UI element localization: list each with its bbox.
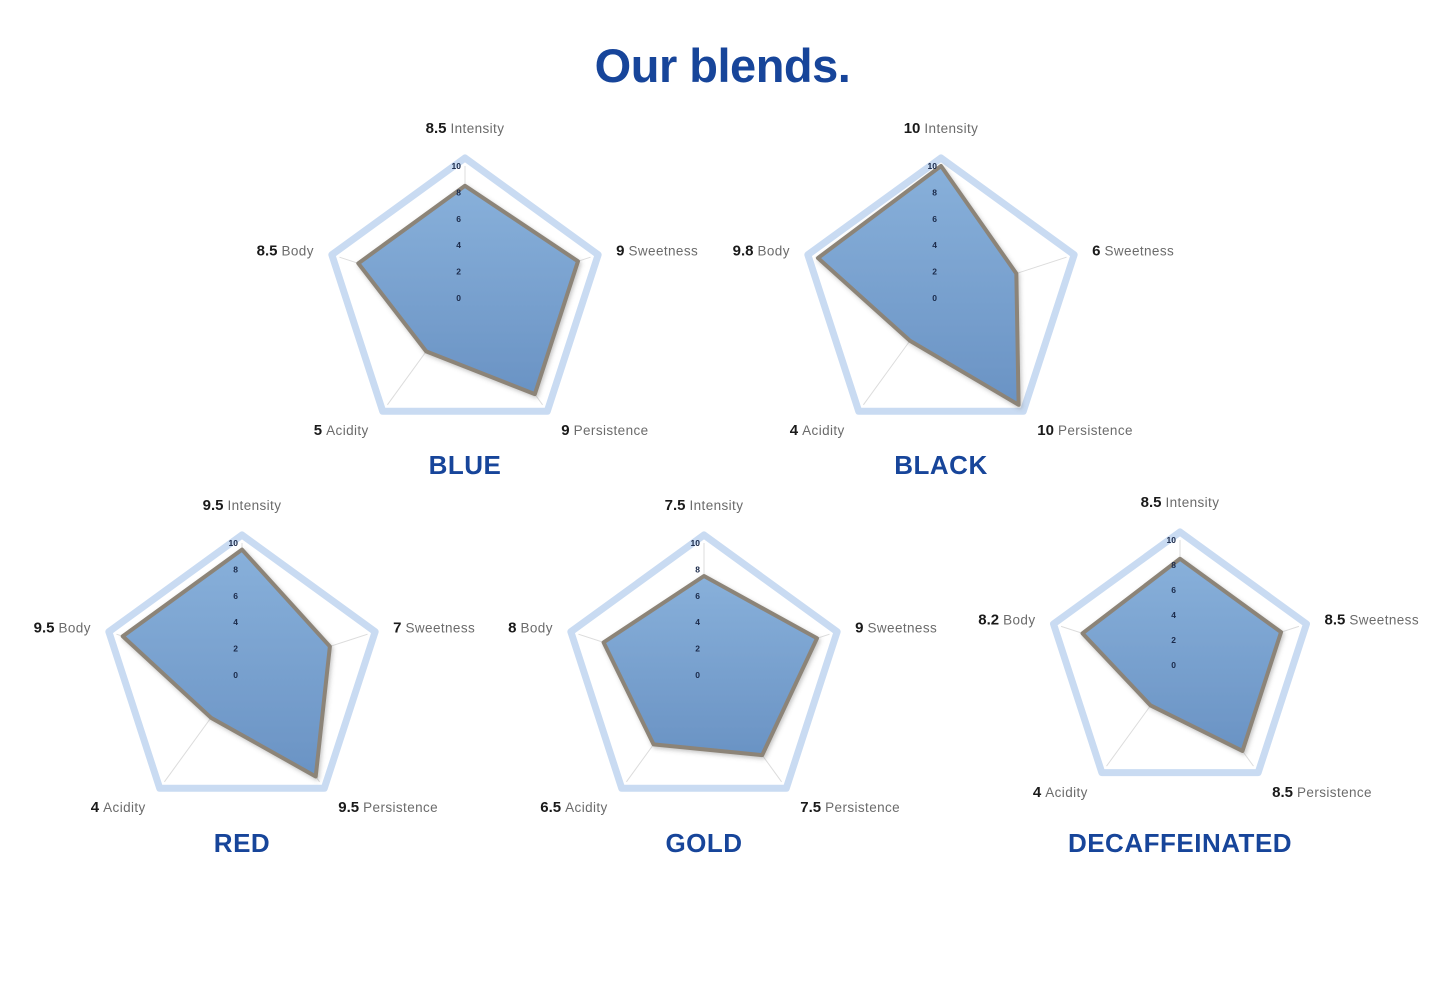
radial-tick-label: 2	[233, 644, 238, 654]
axis-name: Intensity	[1165, 495, 1219, 510]
radial-tick-label: 4	[456, 240, 461, 250]
radial-tick-label: 0	[932, 293, 937, 303]
axis-value: 8.2	[978, 611, 999, 628]
axis-value: 7.5	[665, 497, 686, 514]
axis-name: Acidity	[1045, 785, 1088, 800]
radial-tick-label: 2	[1171, 635, 1176, 645]
axis-name: Body	[520, 620, 552, 635]
radar-charts-container: 10864208.5Intensity9Sweetness9Persistenc…	[0, 0, 1445, 894]
radial-tick-label: 0	[456, 293, 461, 303]
axis-value: 9.5	[34, 619, 55, 636]
radial-tick-label: 4	[233, 617, 238, 627]
axis-value: 8.5	[1272, 784, 1293, 801]
axis-label-body: 9.8Body	[733, 243, 790, 258]
axis-label-sweetness: 6Sweetness	[1092, 243, 1174, 258]
radial-tick-label: 10	[229, 538, 239, 548]
axis-label-intensity: 9.5Intensity	[203, 498, 282, 513]
blend-title-decaffeinated: DECAFFEINATED	[930, 828, 1430, 859]
radial-tick-label: 6	[456, 214, 461, 224]
radial-tick-label: 4	[695, 617, 700, 627]
axis-value: 9	[616, 242, 624, 259]
axis-label-intensity: 7.5Intensity	[665, 498, 744, 513]
axis-name: Body	[58, 620, 90, 635]
radial-tick-label: 6	[932, 214, 937, 224]
axis-label-body: 8Body	[508, 620, 553, 635]
axis-value: 6	[1092, 242, 1100, 259]
axis-value: 9.5	[338, 799, 359, 816]
axis-value: 7.5	[800, 799, 821, 816]
axis-name: Sweetness	[1104, 243, 1174, 258]
axis-label-acidity: 4Acidity	[1033, 785, 1088, 800]
axis-label-body: 8.5Body	[257, 243, 314, 258]
axis-label-body: 9.5Body	[34, 620, 91, 635]
axis-label-persistence: 8.5Persistence	[1272, 785, 1372, 800]
radial-tick-label: 10	[452, 161, 462, 171]
radial-tick-label: 6	[1171, 585, 1176, 595]
axis-name: Intensity	[689, 498, 743, 513]
axis-value: 8.5	[257, 242, 278, 259]
radial-tick-label: 0	[695, 670, 700, 680]
axis-name: Persistence	[1297, 785, 1372, 800]
axis-value: 8.5	[426, 120, 447, 137]
axis-value: 4	[1033, 784, 1041, 801]
axis-value: 8	[508, 619, 516, 636]
axis-name: Intensity	[924, 121, 978, 136]
axis-value: 9.5	[203, 497, 224, 514]
axis-name: Intensity	[450, 121, 504, 136]
axis-name: Intensity	[227, 498, 281, 513]
radial-tick-label: 6	[233, 591, 238, 601]
axis-value: 9	[855, 619, 863, 636]
axis-label-intensity: 10Intensity	[904, 121, 979, 136]
axis-value: 6.5	[540, 799, 561, 816]
axis-label-acidity: 4Acidity	[91, 800, 146, 815]
axis-name: Body	[1003, 612, 1035, 627]
axis-value: 8.5	[1324, 611, 1345, 628]
radar-chart-decaffeinated: 10864208.5Intensity8.5Sweetness8.5Persis…	[877, 362, 1445, 968]
axis-label-intensity: 8.5Intensity	[426, 121, 505, 136]
radial-tick-label: 0	[1171, 660, 1176, 670]
radial-tick-label: 4	[1171, 610, 1176, 620]
radial-tick-label: 10	[1167, 535, 1177, 545]
axis-value: 10	[904, 120, 921, 137]
radial-tick-label: 8	[456, 187, 461, 197]
radial-tick-label: 8	[1171, 560, 1176, 570]
radial-tick-label: 10	[928, 161, 938, 171]
radial-tick-label: 8	[695, 564, 700, 574]
radial-tick-label: 8	[932, 187, 937, 197]
axis-label-acidity: 6.5Acidity	[540, 800, 607, 815]
axis-name: Body	[281, 243, 313, 258]
axis-label-sweetness: 8.5Sweetness	[1324, 612, 1419, 627]
axis-name: Body	[757, 243, 789, 258]
axis-label-intensity: 8.5Intensity	[1141, 495, 1220, 510]
radar-plot: 1086420	[877, 362, 1445, 968]
radial-tick-label: 6	[695, 591, 700, 601]
radial-tick-label: 8	[233, 564, 238, 574]
radial-tick-label: 4	[932, 240, 937, 250]
radial-tick-label: 2	[456, 267, 461, 277]
radial-tick-label: 10	[691, 538, 701, 548]
axis-name: Sweetness	[1349, 612, 1419, 627]
axis-label-body: 8.2Body	[978, 612, 1035, 627]
radial-tick-label: 2	[695, 644, 700, 654]
radial-tick-label: 0	[233, 670, 238, 680]
axis-name: Acidity	[565, 800, 608, 815]
axis-value: 9.8	[733, 242, 754, 259]
axis-name: Acidity	[103, 800, 146, 815]
radial-tick-label: 2	[932, 267, 937, 277]
axis-value: 8.5	[1141, 494, 1162, 511]
axis-value: 4	[91, 799, 99, 816]
